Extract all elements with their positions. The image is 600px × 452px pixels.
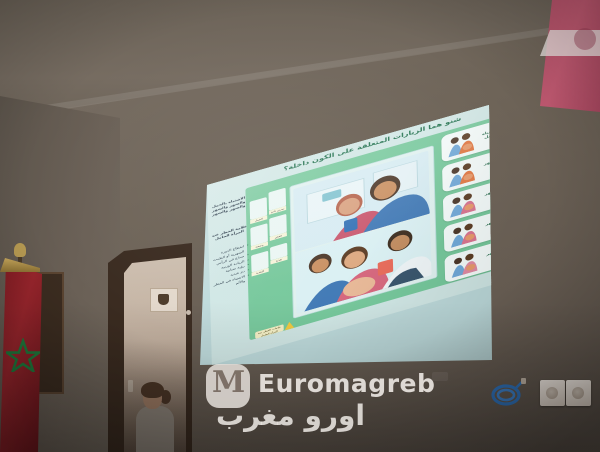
wall-lower-shadow — [0, 302, 600, 452]
room-photo-scene: شنو هما الزيارات المتعلقة على الكون داخل… — [0, 0, 600, 452]
